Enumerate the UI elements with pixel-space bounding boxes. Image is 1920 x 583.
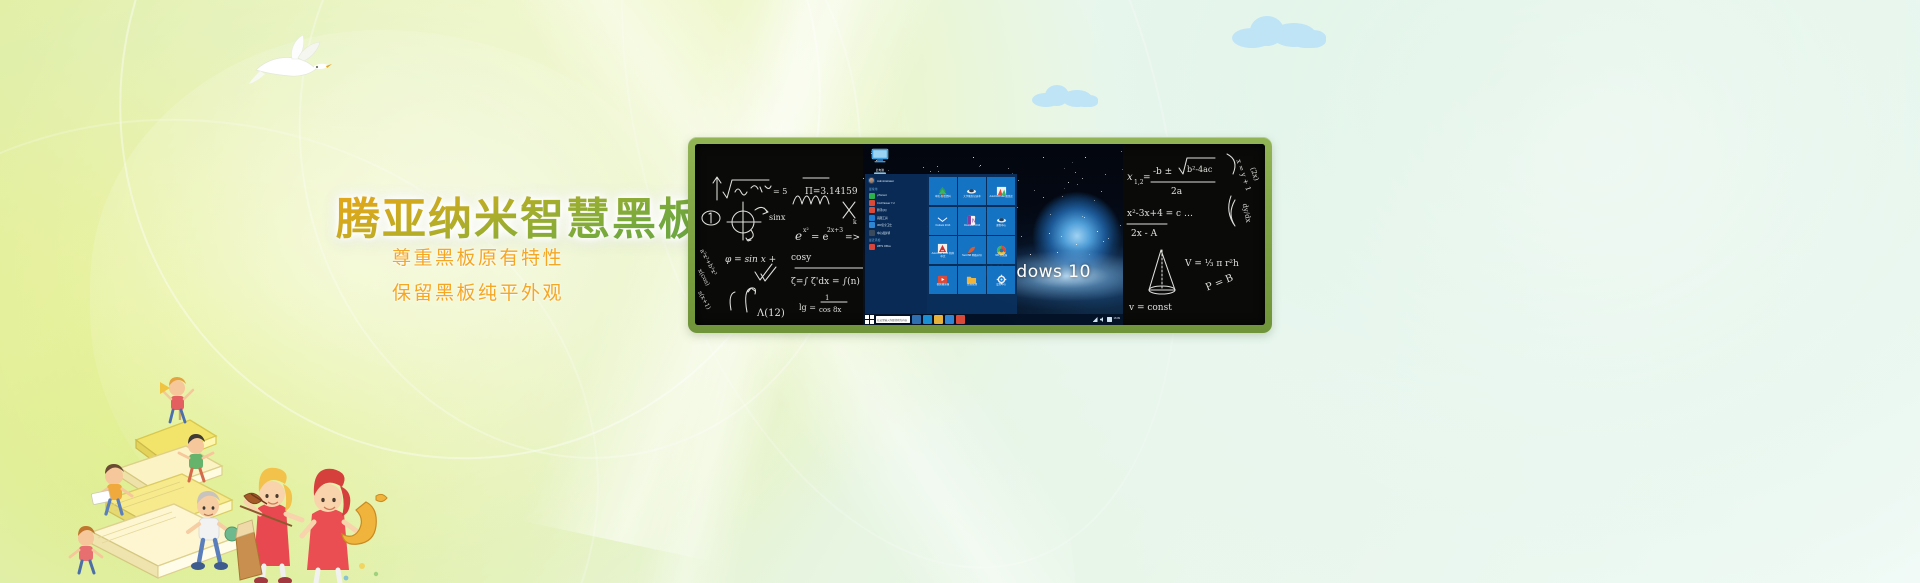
svg-text:b²-4ac: b²-4ac xyxy=(1187,165,1213,174)
star xyxy=(930,171,931,172)
settings-icon xyxy=(996,272,1007,283)
star xyxy=(863,178,864,179)
svg-text:x: x xyxy=(1127,172,1133,183)
start-menu-tile[interactable]: 本机-新增资料 xyxy=(929,177,957,205)
smart-blackboard-device[interactable]: = 5 Π=3.14159 sinx xyxy=(688,137,1272,333)
user-name: Administrator xyxy=(877,179,894,183)
taskbar-apps[interactable] xyxy=(910,315,965,324)
svg-text:cosy: cosy xyxy=(791,253,812,263)
star xyxy=(1068,182,1069,183)
start-menu-tile[interactable]: NOneNote 2013 xyxy=(958,207,986,235)
svg-text:(2x): (2x) xyxy=(1248,166,1260,182)
start-menu-item[interactable]: WPS Office xyxy=(868,243,925,250)
start-menu[interactable]: Administrator 最常用μTorrentCAJViewer 7.2腾讯… xyxy=(865,174,1017,314)
network-icon[interactable] xyxy=(1093,317,1098,322)
tile-label: NB 浏览器 xyxy=(994,255,1008,258)
dove-icon xyxy=(246,30,332,88)
tile-label: 资源管理 xyxy=(966,284,978,287)
start-menu-left-column[interactable]: Administrator 最常用μTorrentCAJViewer 7.2腾讯… xyxy=(865,174,927,314)
svg-text:ζ=∫ ζ'dx = ∫(n): ζ=∫ ζ'dx = ∫(n) xyxy=(791,276,860,287)
store-icon[interactable] xyxy=(945,315,954,324)
start-menu-item-label: 中心截屏机 xyxy=(877,231,890,235)
svg-text:dy/dx: dy/dx xyxy=(1241,203,1253,224)
subtitle-line-2: 保留黑板纯平外观 xyxy=(392,278,564,305)
svg-text:lg =: lg = xyxy=(799,303,816,312)
chrome-icon[interactable] xyxy=(956,315,965,324)
star xyxy=(1122,169,1123,170)
star xyxy=(1077,184,1078,185)
wps-icon xyxy=(869,244,875,250)
svg-text:2a: 2a xyxy=(1171,187,1183,197)
start-menu-tile[interactable]: 大学教务记录本 xyxy=(958,177,986,205)
star xyxy=(1094,200,1095,201)
svg-text:=>: => xyxy=(845,233,860,243)
start-menu-tile[interactable]: AutoCAD 2016 简体中文 xyxy=(929,236,957,264)
start-menu-item-label: μTorrent xyxy=(877,194,887,197)
star xyxy=(1061,236,1062,237)
svg-text:cos 8x: cos 8x xyxy=(819,306,841,314)
start-menu-item-label: 画图工具 xyxy=(877,216,888,220)
system-tray[interactable]: 16:09 xyxy=(1093,317,1122,322)
star xyxy=(1049,233,1050,234)
star xyxy=(1076,244,1077,245)
star xyxy=(1084,217,1085,218)
tile-label: OneNote 2013 xyxy=(963,225,981,228)
chalk-formulas-left: = 5 Π=3.14159 sinx xyxy=(695,144,871,325)
star xyxy=(1064,188,1065,189)
star xyxy=(1018,180,1019,181)
start-menu-tile[interactable]: 设置中心 xyxy=(987,266,1015,294)
tree-icon xyxy=(937,184,948,195)
tile-label: 视频播放器 xyxy=(936,284,951,287)
svg-text:Λ(12): Λ(12) xyxy=(756,308,785,319)
start-button-icon[interactable] xyxy=(865,315,874,324)
svg-text:Π=3.14159: Π=3.14159 xyxy=(805,187,858,197)
star xyxy=(1062,196,1063,197)
start-menu-tile[interactable]: NB 浏览器 xyxy=(987,236,1015,264)
notebook-icon xyxy=(966,184,977,195)
star xyxy=(1097,231,1098,232)
cloud-mid-right-icon xyxy=(1032,84,1098,108)
subtitle-line-1: 尊重黑板原有特性 xyxy=(392,243,564,270)
windows-desktop-panel[interactable]: Windows 10 此电脑 xyxy=(863,144,1123,325)
netusb-icon xyxy=(966,243,977,254)
tile-label: AutoCAD Lite 图纸库 xyxy=(988,196,1013,199)
kids-books-illustration xyxy=(40,270,400,583)
svg-text:x²-3x+4 = c …: x²-3x+4 = c … xyxy=(1127,209,1193,219)
start-menu-tile[interactable]: Outlook 2013 xyxy=(929,207,957,235)
svg-text:2x - A: 2x - A xyxy=(1131,229,1158,239)
star xyxy=(1103,241,1104,242)
svg-text:x²: x² xyxy=(803,227,809,234)
svg-text:φ = sin x +: φ = sin x + xyxy=(725,255,776,265)
browser-icon xyxy=(996,243,1007,254)
cajviewer-icon xyxy=(869,200,875,206)
blackboard-screen[interactable]: = 5 Π=3.14159 sinx xyxy=(695,144,1265,325)
tile-label: 课程中心 xyxy=(995,225,1007,228)
svg-text:=: = xyxy=(1143,173,1151,183)
taskbar-clock[interactable]: 16:09 xyxy=(1114,318,1121,321)
star xyxy=(938,171,939,172)
svg-text:1: 1 xyxy=(825,294,829,302)
star xyxy=(1121,151,1122,152)
this-pc-icon xyxy=(871,148,889,164)
qq-icon xyxy=(869,207,875,213)
start-menu-item-label: 腾讯QQ xyxy=(877,208,887,212)
svg-text:P = B: P = B xyxy=(1204,273,1235,294)
svg-text:k: k xyxy=(853,219,857,226)
star xyxy=(1085,157,1086,158)
onenote-icon: N xyxy=(966,213,977,224)
tile-label: 本机-新增资料 xyxy=(934,196,952,199)
taskbar[interactable]: 在这里输入你要搜索的内容 16:09 xyxy=(863,314,1123,325)
svg-text:-b ±: -b ± xyxy=(1153,167,1172,177)
star xyxy=(1050,214,1051,215)
cloud-top-right-icon xyxy=(1232,14,1326,50)
start-menu-item-label: WPS Office xyxy=(877,245,891,248)
page-title: 腾亚纳米智慧黑板 xyxy=(336,183,704,247)
avatar xyxy=(868,177,875,184)
explorer-icon[interactable] xyxy=(934,315,943,324)
start-menu-item[interactable]: 画图工具 xyxy=(868,214,925,221)
star xyxy=(1021,236,1022,237)
start-menu-tile[interactable]: 资源管理 xyxy=(958,266,986,294)
svg-text:= 5: = 5 xyxy=(773,187,787,196)
star xyxy=(937,166,938,167)
star xyxy=(1082,178,1083,179)
start-menu-tile[interactable]: NetUSB 网络向导 xyxy=(958,236,986,264)
star xyxy=(980,165,981,166)
paint-icon xyxy=(869,215,875,221)
360-icon xyxy=(869,222,875,228)
search-placeholder: 在这里输入你要搜索的内容 xyxy=(877,318,907,322)
start-menu-item-label: 360安全卫士 xyxy=(877,223,892,227)
start-menu-sections: 最常用μTorrentCAJViewer 7.2腾讯QQ画图工具360安全卫士中… xyxy=(868,187,925,251)
screenshot-icon xyxy=(869,230,875,236)
start-menu-tiles[interactable]: 本机-新增资料大学教务记录本AutoCAD Lite 图纸库Outlook 20… xyxy=(927,174,1017,314)
star xyxy=(1043,157,1044,158)
tile-label: 大学教务记录本 xyxy=(962,196,982,199)
star xyxy=(923,167,924,168)
start-menu-tile[interactable]: AutoCAD Lite 图纸库 xyxy=(987,177,1015,205)
taskbar-search-input[interactable]: 在这里输入你要搜索的内容 xyxy=(876,316,910,323)
star xyxy=(1075,172,1076,173)
start-menu-item[interactable]: 中心截屏机 xyxy=(868,229,925,236)
utorrent-icon xyxy=(869,193,875,199)
svg-text:= e: = e xyxy=(811,232,829,243)
battery-icon[interactable] xyxy=(1107,317,1112,322)
star xyxy=(973,157,974,158)
star xyxy=(1072,162,1073,163)
svg-text:2x+3: 2x+3 xyxy=(827,227,843,234)
cad-icon xyxy=(996,184,1007,195)
start-menu-tile[interactable]: 视频播放器 xyxy=(929,266,957,294)
start-menu-section-title: 最近添加 xyxy=(869,238,925,242)
edge-icon[interactable] xyxy=(923,315,932,324)
star xyxy=(1064,168,1065,169)
svg-text:sinx: sinx xyxy=(769,213,786,222)
star xyxy=(1101,191,1102,192)
star xyxy=(1108,238,1109,239)
promo-banner: 腾亚纳米智慧黑板 尊重黑板原有特性 保留黑板纯平外观 xyxy=(0,0,1920,583)
tile-label: AutoCAD 2016 简体中文 xyxy=(930,253,957,259)
svg-text:s(x+1): s(x+1) xyxy=(696,290,712,311)
start-menu-item[interactable]: 腾讯QQ xyxy=(868,207,925,214)
start-menu-item[interactable]: CAJViewer 7.2 xyxy=(868,199,925,206)
star xyxy=(1120,225,1121,226)
start-menu-user[interactable]: Administrator xyxy=(868,177,925,184)
svg-text:e: e xyxy=(795,229,802,243)
star xyxy=(1030,254,1031,255)
star xyxy=(1089,254,1090,255)
video-icon xyxy=(937,272,948,283)
svg-text:x = y + 1: x = y + 1 xyxy=(1234,158,1252,192)
volume-icon[interactable] xyxy=(1100,317,1105,322)
start-menu-item[interactable]: 360安全卫士 xyxy=(868,222,925,229)
star xyxy=(1082,216,1083,217)
star xyxy=(1043,197,1044,198)
course-icon xyxy=(996,213,1007,224)
star xyxy=(1105,174,1106,175)
folder-icon xyxy=(966,272,977,283)
autocad-icon xyxy=(937,241,948,252)
tile-label: NetUSB 网络向导 xyxy=(961,255,983,258)
tile-label: 设置中心 xyxy=(995,284,1007,287)
chalk-formulas-right: x 1,2 = -b ± b²-4ac 2a x = y + 1 (2x) x²… xyxy=(1123,144,1265,325)
svg-text:v = const: v = const xyxy=(1128,303,1172,313)
outlook-icon xyxy=(937,213,948,224)
svg-text:V = ⅓ π r²h: V = ⅓ π r²h xyxy=(1184,259,1239,269)
star xyxy=(1008,168,1009,169)
star xyxy=(1034,190,1035,191)
start-menu-section-title: 最常用 xyxy=(869,187,925,191)
star xyxy=(979,166,980,167)
start-menu-item-label: CAJViewer 7.2 xyxy=(877,202,895,205)
start-menu-item[interactable]: μTorrent xyxy=(868,192,925,199)
task-view-icon[interactable] xyxy=(912,315,921,324)
tile-label: Outlook 2013 xyxy=(934,225,951,228)
star xyxy=(1057,252,1058,253)
start-menu-tile[interactable]: 课程中心 xyxy=(987,207,1015,235)
